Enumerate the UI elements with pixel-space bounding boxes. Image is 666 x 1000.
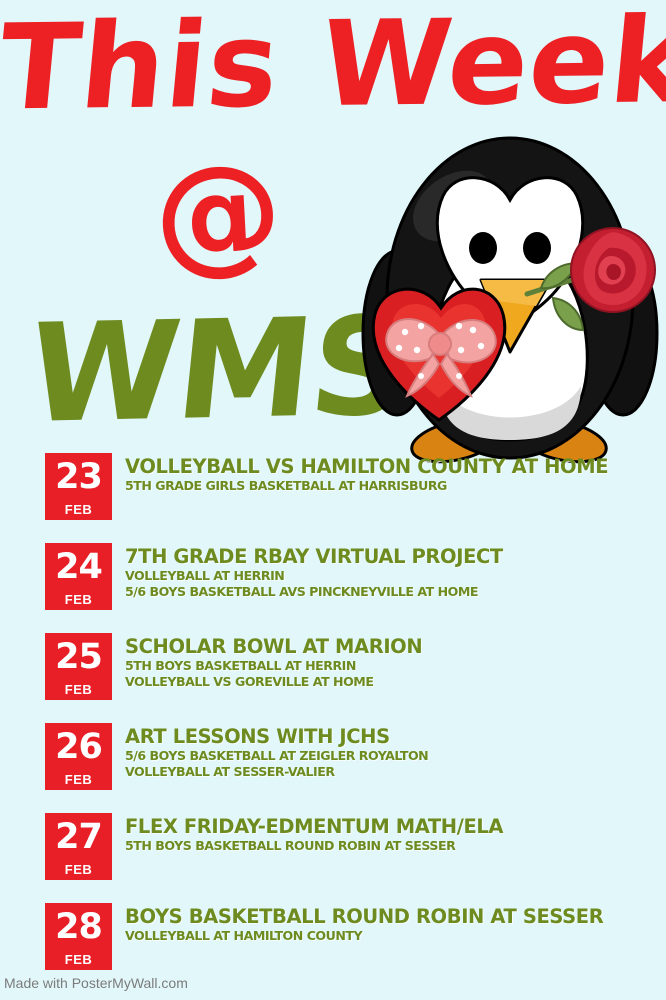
event-subline: 5TH BOYS BASKETBALL ROUND ROBIN AT SESSE… xyxy=(125,838,645,854)
event-text-block: SCHOLAR BOWL AT MARION5TH BOYS BASKETBAL… xyxy=(125,635,645,689)
event-subline: VOLLEYBALL VS GOREVILLE AT HOME xyxy=(125,674,645,690)
event-title: 7TH GRADE RBAY VIRTUAL PROJECT xyxy=(125,545,645,568)
date-badge: 24FEB xyxy=(45,543,112,610)
event-subline: 5/6 BOYS BASKETBALL AVS PINCKNEYVILLE AT… xyxy=(125,584,645,600)
event-subline: 5/6 BOYS BASKETBALL AT ZEIGLER ROYALTON xyxy=(125,748,645,764)
date-badge: 26FEB xyxy=(45,723,112,790)
poster-canvas: This Week @ WMS xyxy=(0,0,666,1000)
event-row: 23FEBVOLLEYBALL VS HAMILTON COUNTY AT HO… xyxy=(45,453,645,533)
event-text-block: FLEX FRIDAY-EDMENTUM MATH/ELA5TH BOYS BA… xyxy=(125,815,645,854)
date-month: FEB xyxy=(45,498,112,517)
event-text-block: BOYS BASKETBALL ROUND ROBIN AT SESSERVOL… xyxy=(125,905,645,944)
event-subline: VOLLEYBALL AT SESSER-VALIER xyxy=(125,764,645,780)
date-badge: 25FEB xyxy=(45,633,112,700)
event-title: FLEX FRIDAY-EDMENTUM MATH/ELA xyxy=(125,815,645,838)
date-day: 28 xyxy=(45,903,112,948)
date-month: FEB xyxy=(45,768,112,787)
page-title: This Week xyxy=(0,0,647,137)
event-row: 26FEBART LESSONS WITH JCHS5/6 BOYS BASKE… xyxy=(45,723,645,803)
event-row: 27FEBFLEX FRIDAY-EDMENTUM MATH/ELA5TH BO… xyxy=(45,813,645,893)
at-symbol: @ xyxy=(147,149,290,284)
event-title: ART LESSONS WITH JCHS xyxy=(125,725,645,748)
event-title: VOLLEYBALL VS HAMILTON COUNTY AT HOME xyxy=(125,455,645,478)
date-month: FEB xyxy=(45,588,112,607)
date-day: 26 xyxy=(45,723,112,768)
event-subline: VOLLEYBALL AT HERRIN xyxy=(125,568,645,584)
valentine-penguin-illustration xyxy=(355,128,665,473)
date-day: 25 xyxy=(45,633,112,678)
event-subline: 5TH BOYS BASKETBALL AT HERRIN xyxy=(125,658,645,674)
date-day: 27 xyxy=(45,813,112,858)
date-month: FEB xyxy=(45,948,112,967)
event-subline: VOLLEYBALL AT HAMILTON COUNTY xyxy=(125,928,645,944)
date-month: FEB xyxy=(45,858,112,877)
event-title: BOYS BASKETBALL ROUND ROBIN AT SESSER xyxy=(125,905,645,928)
event-row: 25FEBSCHOLAR BOWL AT MARION5TH BOYS BASK… xyxy=(45,633,645,713)
event-text-block: VOLLEYBALL VS HAMILTON COUNTY AT HOME5TH… xyxy=(125,455,645,494)
event-title: SCHOLAR BOWL AT MARION xyxy=(125,635,645,658)
postermywall-watermark: Made with PosterMyWall.com xyxy=(4,975,188,992)
date-badge: 28FEB xyxy=(45,903,112,970)
date-badge: 23FEB xyxy=(45,453,112,520)
event-row: 24FEB7TH GRADE RBAY VIRTUAL PROJECTVOLLE… xyxy=(45,543,645,623)
date-day: 23 xyxy=(45,453,112,498)
event-text-block: 7TH GRADE RBAY VIRTUAL PROJECTVOLLEYBALL… xyxy=(125,545,645,599)
date-badge: 27FEB xyxy=(45,813,112,880)
event-subline: 5TH GRADE GIRLS BASKETBALL AT HARRISBURG xyxy=(125,478,645,494)
event-text-block: ART LESSONS WITH JCHS5/6 BOYS BASKETBALL… xyxy=(125,725,645,779)
date-day: 24 xyxy=(45,543,112,588)
date-month: FEB xyxy=(45,678,112,697)
event-row: 28FEBBOYS BASKETBALL ROUND ROBIN AT SESS… xyxy=(45,903,645,983)
